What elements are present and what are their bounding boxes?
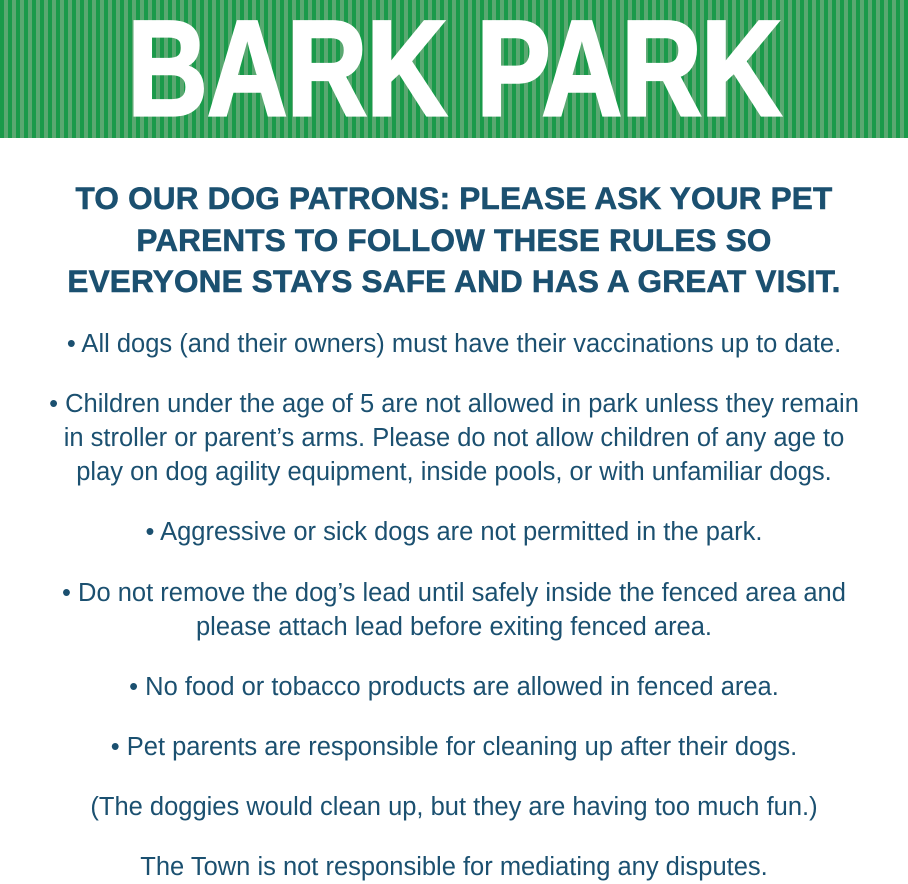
- banner-header: BARK PARK: [0, 0, 908, 138]
- disclaimer-text: The Town is not responsible for mediatin…: [38, 850, 870, 884]
- rule-item: • Aggressive or sick dogs are not permit…: [38, 515, 870, 549]
- rule-item: • Pet parents are responsible for cleani…: [38, 730, 870, 764]
- rule-item: • Children under the age of 5 are not al…: [38, 387, 870, 489]
- poster-body: TO OUR DOG PATRONS: PLEASE ASK YOUR PET …: [0, 138, 908, 884]
- rule-item: • No food or tobacco products are allowe…: [38, 670, 870, 704]
- banner-title: BARK PARK: [82, 9, 827, 129]
- headline: TO OUR DOG PATRONS: PLEASE ASK YOUR PET …: [34, 138, 874, 303]
- parenthetical-note: (The doggies would clean up, but they ar…: [38, 790, 870, 824]
- bark-park-rules-poster: BARK PARK TO OUR DOG PATRONS: PLEASE ASK…: [0, 0, 908, 872]
- rule-item: • All dogs (and their owners) must have …: [38, 327, 870, 361]
- rule-item: • Do not remove the dog’s lead until saf…: [38, 576, 870, 644]
- rules-list: • All dogs (and their owners) must have …: [34, 303, 874, 884]
